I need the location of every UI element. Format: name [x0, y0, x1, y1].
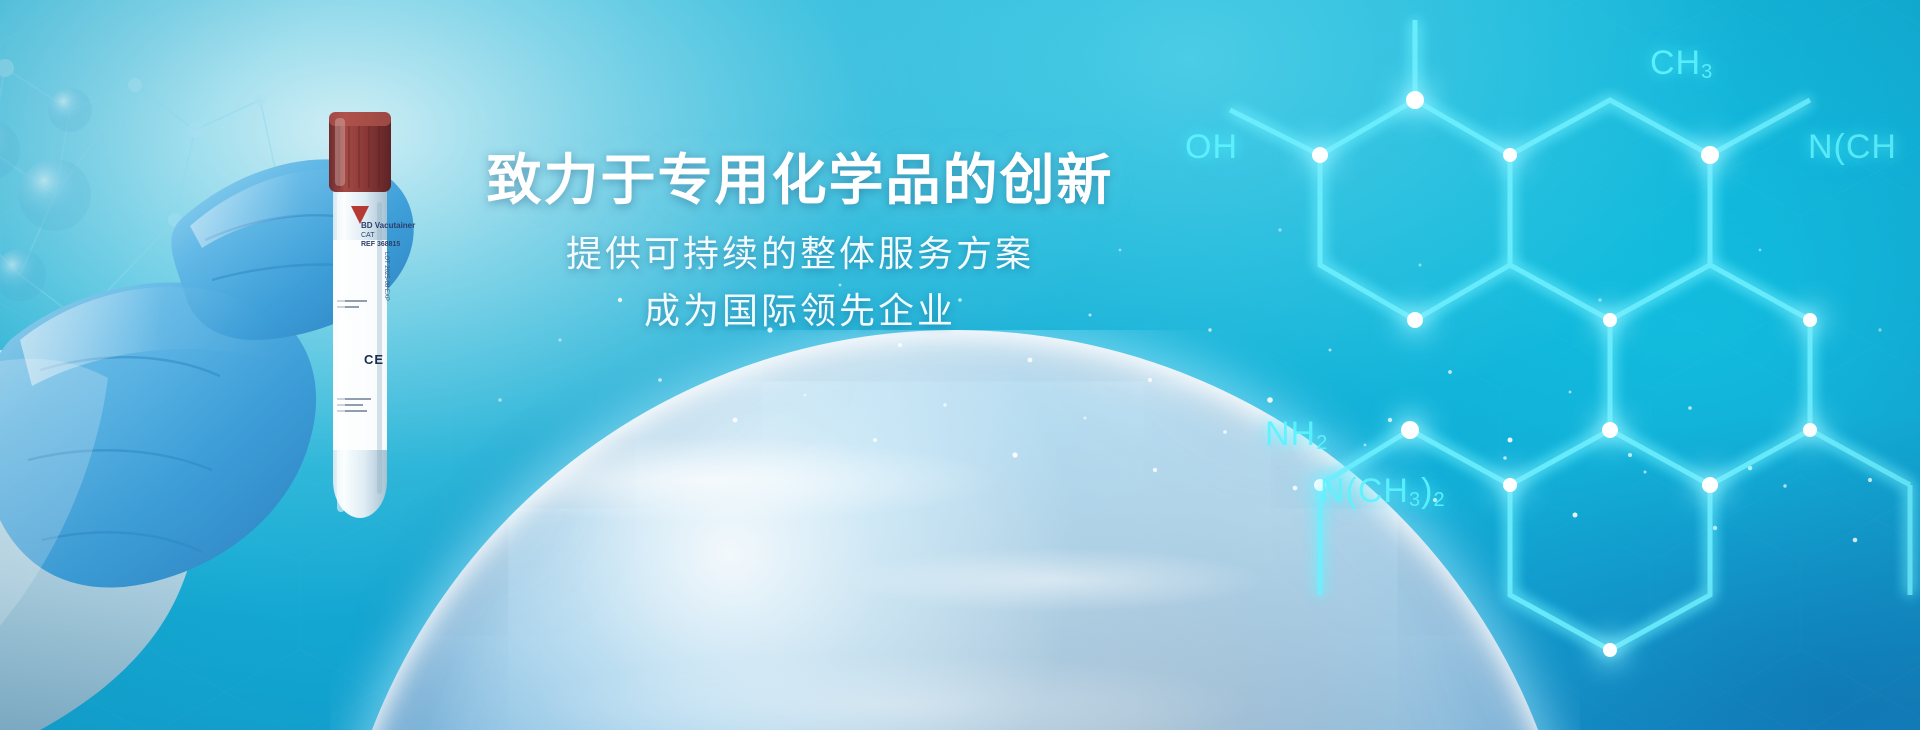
molecule-label-n-ch-top: N(CH: [1808, 128, 1897, 167]
molecule-label-ch3: CH3: [1650, 44, 1713, 84]
molecule-label-nh2: NH2: [1265, 415, 1328, 455]
page-title: 致力于专用化学品的创新: [450, 150, 1150, 212]
hero-banner: CH3 OH N(CH NH2 N(CH3)2: [0, 0, 1920, 730]
subtitle-line-2: 成为国际领先企业: [450, 283, 1150, 339]
gloved-hand-icon: [0, 40, 500, 730]
molecule-icon: [1170, 0, 1920, 730]
tube-vertical-note: LOT 2025-08 EXP: [383, 252, 389, 301]
molecule-label-oh: OH: [1185, 128, 1238, 167]
tube-ref-text: REF 368815: [361, 241, 400, 248]
tube-brand-text: BD Vacutainer: [361, 221, 415, 230]
subtitle-line-1: 提供可持续的整体服务方案: [450, 226, 1150, 282]
tube-cat-text: CAT: [361, 232, 374, 239]
banner-copy: 致力于专用化学品的创新 提供可持续的整体服务方案 成为国际领先企业: [450, 150, 1150, 339]
tube-ce-mark: CE: [364, 352, 384, 367]
molecule-label-n-ch3-2: N(CH3)2: [1320, 472, 1446, 512]
